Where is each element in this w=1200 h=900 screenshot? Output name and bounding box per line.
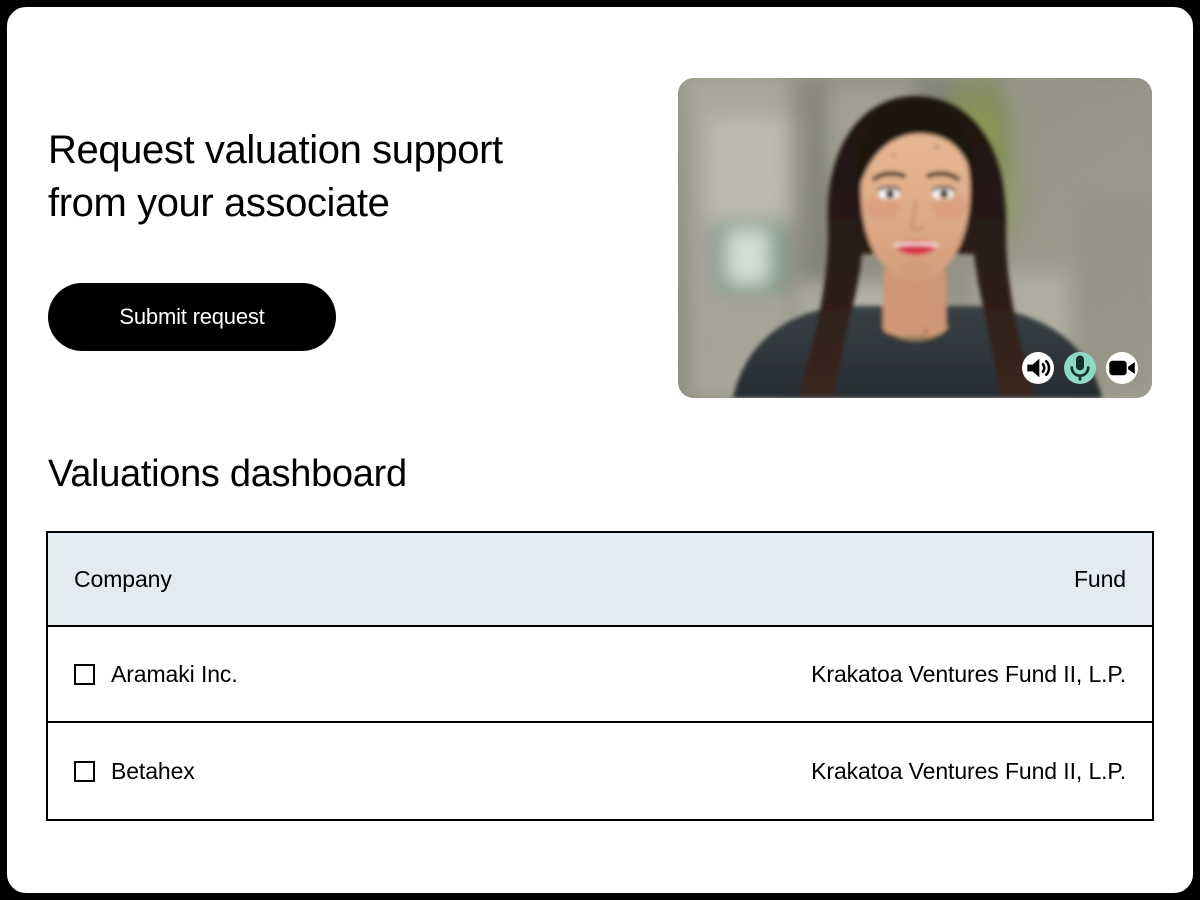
hero-section: Request valuation support from your asso… <box>7 7 1193 427</box>
camera-icon <box>1106 208 1138 398</box>
fund-name: Krakatoa Ventures Fund II, L.P. <box>811 758 1126 785</box>
company-cell: Aramaki Inc. <box>74 661 238 688</box>
row-checkbox[interactable] <box>74 761 95 782</box>
table-header-row: Company Fund <box>48 533 1152 627</box>
app-frame: Request valuation support from your asso… <box>0 0 1200 900</box>
page-title: Request valuation support from your asso… <box>48 124 628 230</box>
camera-button[interactable] <box>1106 352 1138 384</box>
dashboard-title: Valuations dashboard <box>48 453 407 496</box>
company-name: Betahex <box>111 758 195 785</box>
speaker-icon <box>1022 208 1054 398</box>
submit-request-button[interactable]: Submit request <box>48 283 336 351</box>
column-header-company: Company <box>74 566 172 593</box>
valuations-table: Company Fund Aramaki Inc. Krakatoa Ventu… <box>46 531 1154 821</box>
speaker-button[interactable] <box>1022 352 1054 384</box>
row-checkbox[interactable] <box>74 664 95 685</box>
video-call-controls <box>1022 352 1138 384</box>
microphone-icon <box>1064 208 1096 398</box>
table-row[interactable]: Betahex Krakatoa Ventures Fund II, L.P. <box>48 723 1152 819</box>
company-name: Aramaki Inc. <box>111 661 238 688</box>
microphone-button[interactable] <box>1064 352 1096 384</box>
table-row[interactable]: Aramaki Inc. Krakatoa Ventures Fund II, … <box>48 627 1152 723</box>
fund-name: Krakatoa Ventures Fund II, L.P. <box>811 661 1126 688</box>
company-cell: Betahex <box>74 758 195 785</box>
column-header-fund: Fund <box>1074 566 1126 593</box>
video-call-panel[interactable] <box>678 78 1152 398</box>
